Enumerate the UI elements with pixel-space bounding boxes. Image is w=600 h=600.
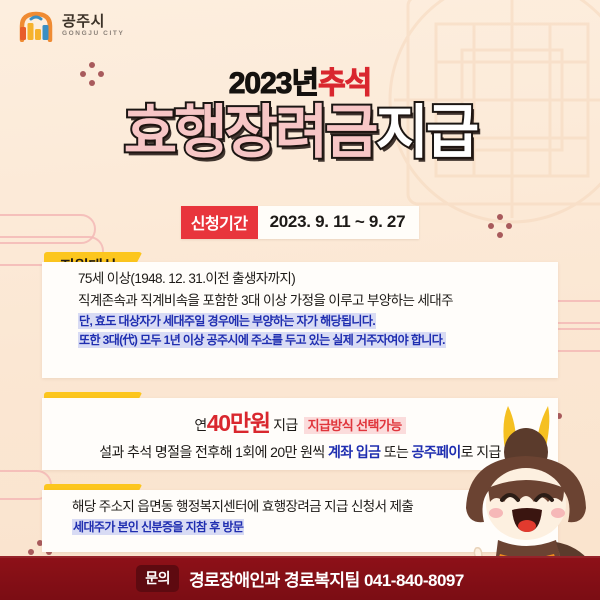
logo-name-kr: 공주시	[62, 14, 124, 29]
target-line-1: 75세 이상(1948. 12. 31.이전 출생자까지)	[42, 268, 558, 290]
period-badge-label: 신청기간	[181, 206, 258, 239]
payment-method-chip: 지급방식 선택가능	[304, 417, 406, 434]
title-main-text: 효행장려금	[124, 100, 376, 165]
title-action-text: 지급	[376, 100, 477, 165]
target-note-2: 또한 3대(代) 모두 1년 이상 공주시에 주소를 두고 있는 실제 거주자여…	[42, 331, 558, 350]
target-note-1-text: 단, 효도 대상자가 세대주일 경우에는 부양하는 자가 해당됩니다.	[78, 313, 376, 329]
footer-contact-text: 경로장애인과 경로복지팀 041-840-8097	[189, 566, 464, 591]
amount-detail-pre: 설과 추석 명절을 전후해 1회에 20만 원씩	[99, 444, 328, 460]
amount-suffix: 지급	[273, 417, 298, 433]
target-note-2-text: 또한 3대(代) 모두 1년 이상 공주시에 주소를 두고 있는 실제 거주자여…	[78, 332, 446, 348]
contact-footer-bar: 문의 경로장애인과 경로복지팀 041-840-8097	[0, 556, 600, 600]
poster-title: 2023년추석 효행장려금지급	[0, 58, 600, 162]
logo-name-en: GONGJU CITY	[62, 31, 124, 38]
amount-detail-mid: 또는	[380, 444, 411, 460]
section-card-target: 75세 이상(1948. 12. 31.이전 출생자까지) 직계존속과 직계비속…	[42, 262, 558, 378]
title-line-2: 효행장려금지급	[0, 103, 600, 162]
amount-detail-account: 계좌 입금	[328, 444, 380, 460]
target-note-1: 단, 효도 대상자가 세대주일 경우에는 부양하는 자가 해당됩니다.	[42, 312, 558, 331]
footer-inquiry-badge: 문의	[136, 565, 179, 592]
poster-root: 공주시 GONGJU CITY 2023년추석 효행장려금지급 신청기간 202…	[0, 0, 600, 600]
title-year-text: 2023년	[229, 67, 318, 100]
gongju-arch-logo-icon	[18, 10, 54, 42]
period-date-value: 2023. 9. 11 ~ 9. 27	[258, 206, 420, 239]
application-period-bar: 신청기간 2023. 9. 11 ~ 9. 27	[0, 206, 600, 239]
method-note-1-text: 세대주가 본인 신분증을 지참 후 방문	[72, 519, 244, 535]
amount-prefix: 연	[194, 417, 206, 433]
title-line-1: 2023년추석	[0, 58, 600, 102]
gongju-city-logo: 공주시 GONGJU CITY	[18, 10, 124, 42]
target-line-2: 직계존속과 직계비속을 포함한 3대 이상 가정을 이루고 부양하는 세대주	[42, 290, 558, 312]
title-holiday-text: 추석	[318, 67, 371, 100]
amount-value: 40만원	[207, 410, 270, 436]
